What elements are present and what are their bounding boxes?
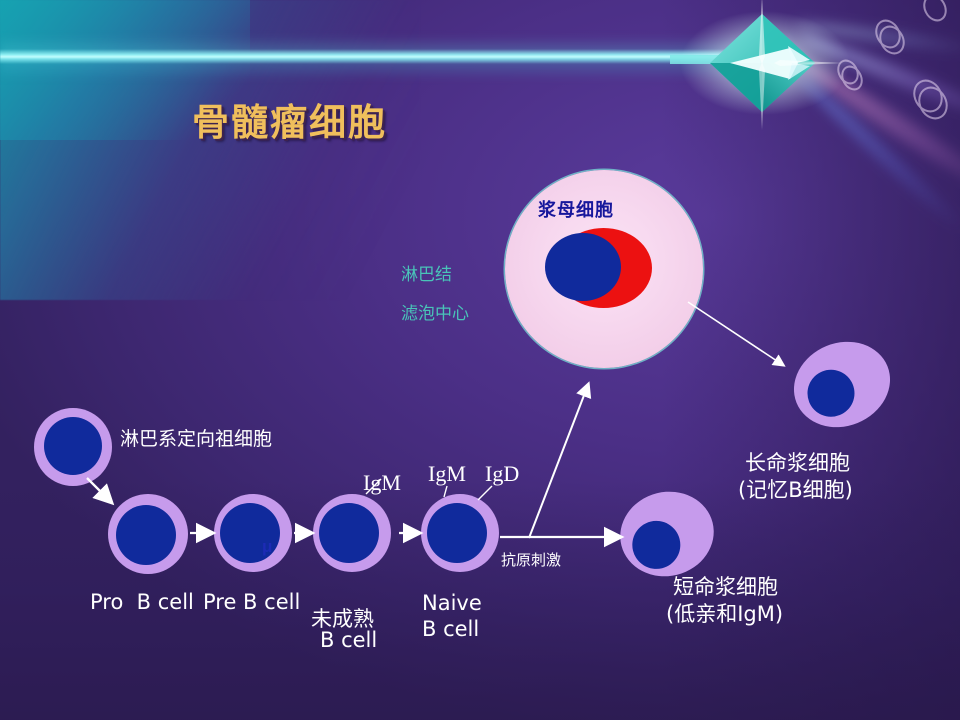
marker-igm-naive-label: IgM [428, 461, 466, 487]
cell-nucleus [116, 505, 176, 565]
plasmablast-label: 浆母细胞 [538, 196, 614, 222]
long-lived-plasma-label-line2: (记忆B细胞) [738, 474, 853, 504]
cell-pre-b [214, 494, 292, 572]
short-lived-plasma-label-line2: (低亲和IgM) [666, 598, 783, 628]
label-immature-b-cell-line2: B cell [320, 628, 377, 652]
cell-immature-b [313, 494, 391, 572]
long-lived-plasma-label-line1: 长命浆细胞 [745, 447, 850, 477]
marker-igd-naive-label: IgD [485, 461, 519, 487]
cell-nucleus [427, 503, 487, 563]
slide-title: 骨髓瘤细胞 [192, 92, 387, 146]
label-pro-b-cell: Pro B cell [90, 590, 194, 614]
marker-igm-immature-label: IgM [363, 470, 401, 496]
prism-decoration-icon [670, 0, 960, 135]
cell-nucleus [319, 503, 379, 563]
cell-lymphoid-progenitor [34, 408, 112, 486]
label-naive-b-cell-line2: B cell [422, 617, 479, 641]
label-naive-b-cell-line1: Naive [422, 591, 482, 615]
cell-pro-b [108, 494, 188, 574]
slide-canvas: 骨髓瘤细胞 淋巴结 滤泡中心 浆母细胞 淋巴系定向祖细胞 Pro B cell … [0, 0, 960, 720]
cell-naive-b [421, 494, 499, 572]
germinal-center-label-line2: 滤泡中心 [401, 299, 469, 324]
lymphoid-progenitor-label: 淋巴系定向祖细胞 [120, 424, 272, 451]
germinal-center-label-line1: 淋巴结 [401, 260, 452, 285]
label-pre-b-cell: Pre B cell [203, 590, 300, 614]
plasmablast-nucleus [545, 233, 621, 301]
antigen-stimulation-label: 抗原刺激 [501, 549, 561, 570]
marker-mu-label: μ [262, 537, 272, 557]
short-lived-plasma-label-line1: 短命浆细胞 [673, 571, 778, 601]
cell-nucleus [44, 417, 102, 475]
